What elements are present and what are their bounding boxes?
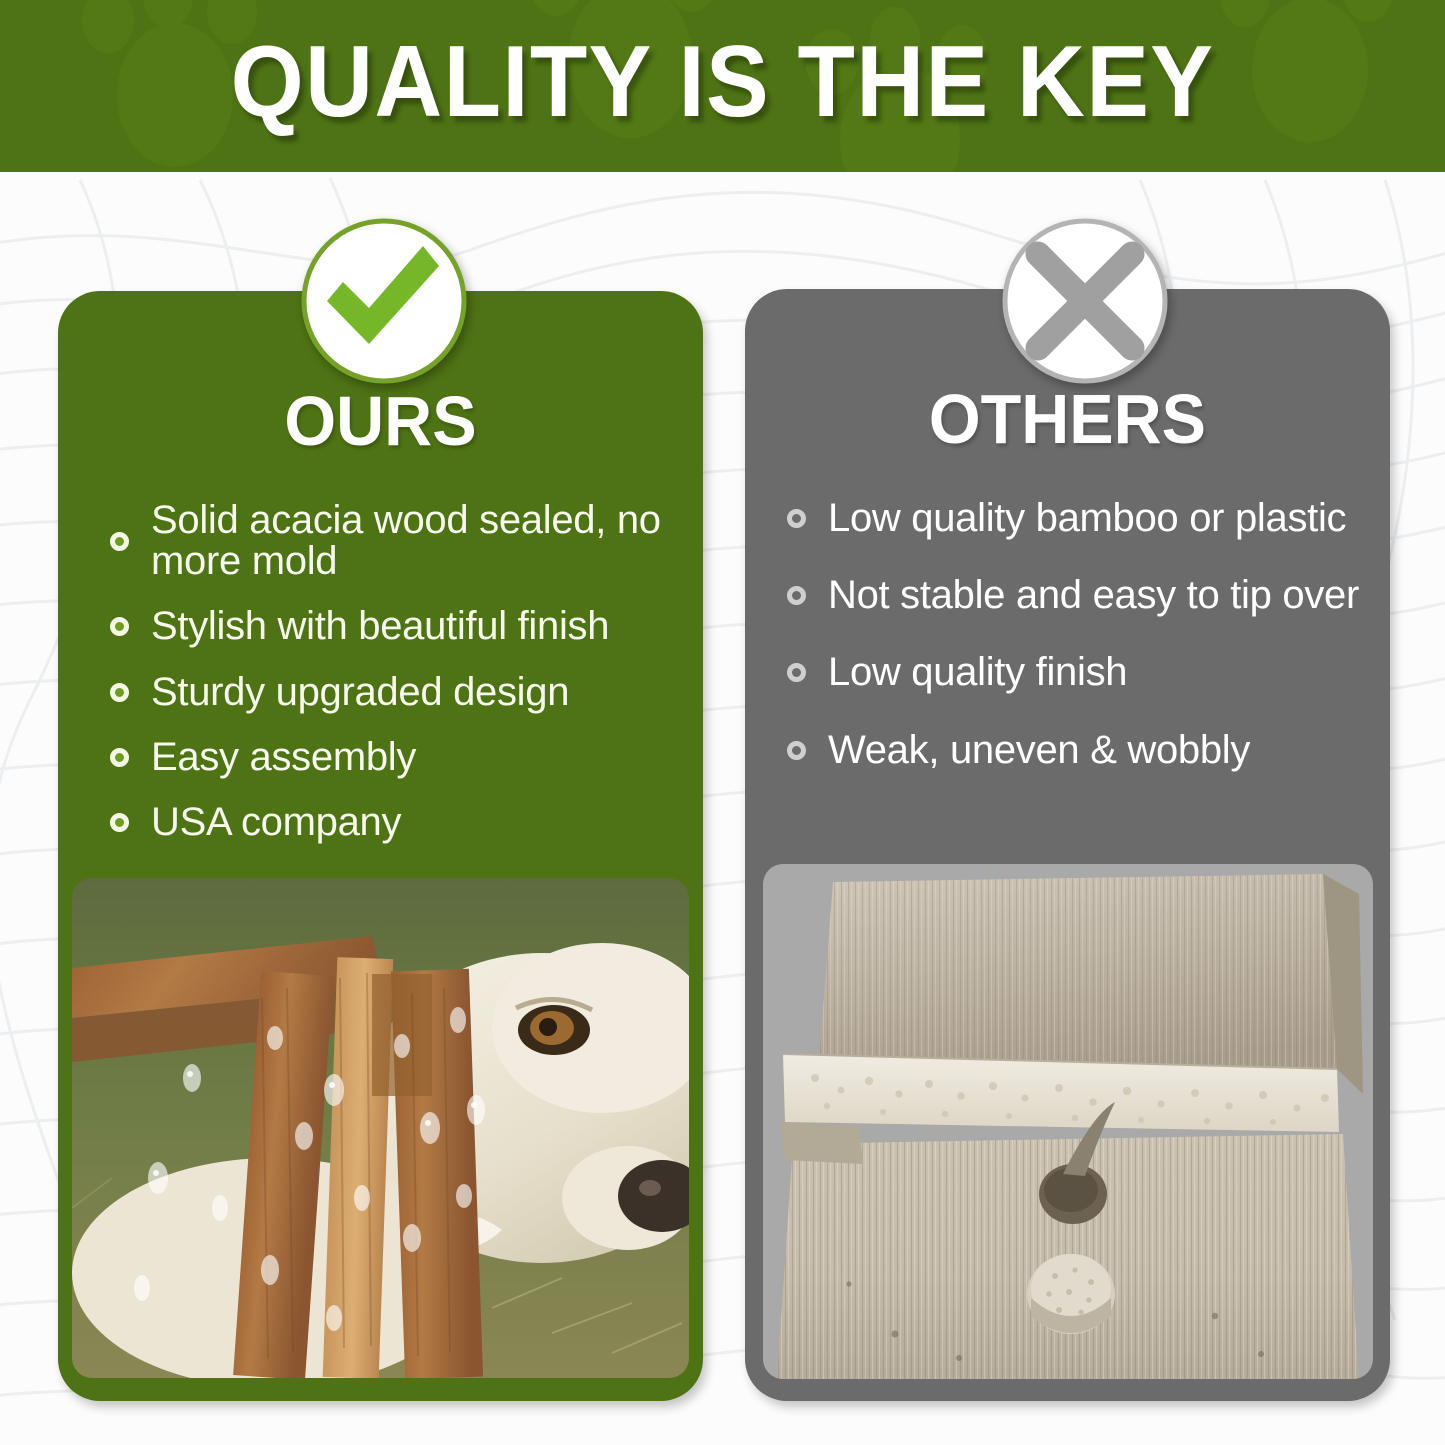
bullet-icon bbox=[787, 663, 806, 682]
others-heading: OTHERS bbox=[761, 384, 1374, 454]
ours-feature-list: Solid acacia wood sealed, no more mold S… bbox=[58, 500, 703, 843]
list-item: USA company bbox=[110, 802, 693, 843]
header-banner: QUALITY IS THE KEY bbox=[0, 0, 1445, 172]
close-badge bbox=[1000, 216, 1170, 386]
bullet-icon bbox=[110, 748, 129, 767]
bullet-icon bbox=[787, 586, 806, 605]
list-item-label: Low quality finish bbox=[828, 652, 1127, 693]
list-item-label: Stylish with beautiful finish bbox=[151, 606, 609, 647]
bullet-icon bbox=[787, 741, 806, 760]
bullet-icon bbox=[110, 617, 129, 636]
list-item-label: Solid acacia wood sealed, no more mold bbox=[151, 500, 693, 582]
list-item-label: Easy assembly bbox=[151, 737, 416, 778]
list-item: Solid acacia wood sealed, no more mold bbox=[110, 500, 693, 582]
others-feature-list: Low quality bamboo or plastic Not stable… bbox=[745, 498, 1390, 771]
comparison-infographic: QUALITY IS THE KEY bbox=[0, 0, 1445, 1445]
list-item: Sturdy upgraded design bbox=[110, 672, 693, 713]
bullet-icon bbox=[110, 813, 129, 832]
list-item-label: USA company bbox=[151, 802, 401, 843]
list-item: Stylish with beautiful finish bbox=[110, 606, 693, 647]
ours-product-photo bbox=[72, 878, 689, 1378]
bullet-icon bbox=[787, 509, 806, 528]
list-item-label: Weak, uneven & wobbly bbox=[828, 730, 1250, 771]
page-title: QUALITY IS THE KEY bbox=[51, 0, 1395, 172]
others-card: OTHERS Low quality bamboo or plastic Not… bbox=[745, 289, 1390, 1401]
ours-heading: OURS bbox=[74, 386, 687, 456]
bullet-icon bbox=[110, 683, 129, 702]
check-badge bbox=[299, 216, 469, 386]
list-item-label: Low quality bamboo or plastic bbox=[828, 498, 1346, 539]
list-item-label: Not stable and easy to tip over bbox=[828, 575, 1359, 616]
others-product-photo bbox=[763, 864, 1373, 1379]
ours-card: OURS Solid acacia wood sealed, no more m… bbox=[58, 291, 703, 1401]
list-item: Easy assembly bbox=[110, 737, 693, 778]
list-item: Not stable and easy to tip over bbox=[787, 575, 1380, 616]
list-item-label: Sturdy upgraded design bbox=[151, 672, 569, 713]
bullet-icon bbox=[110, 532, 129, 551]
list-item: Weak, uneven & wobbly bbox=[787, 730, 1380, 771]
list-item: Low quality bamboo or plastic bbox=[787, 498, 1380, 539]
list-item: Low quality finish bbox=[787, 652, 1380, 693]
